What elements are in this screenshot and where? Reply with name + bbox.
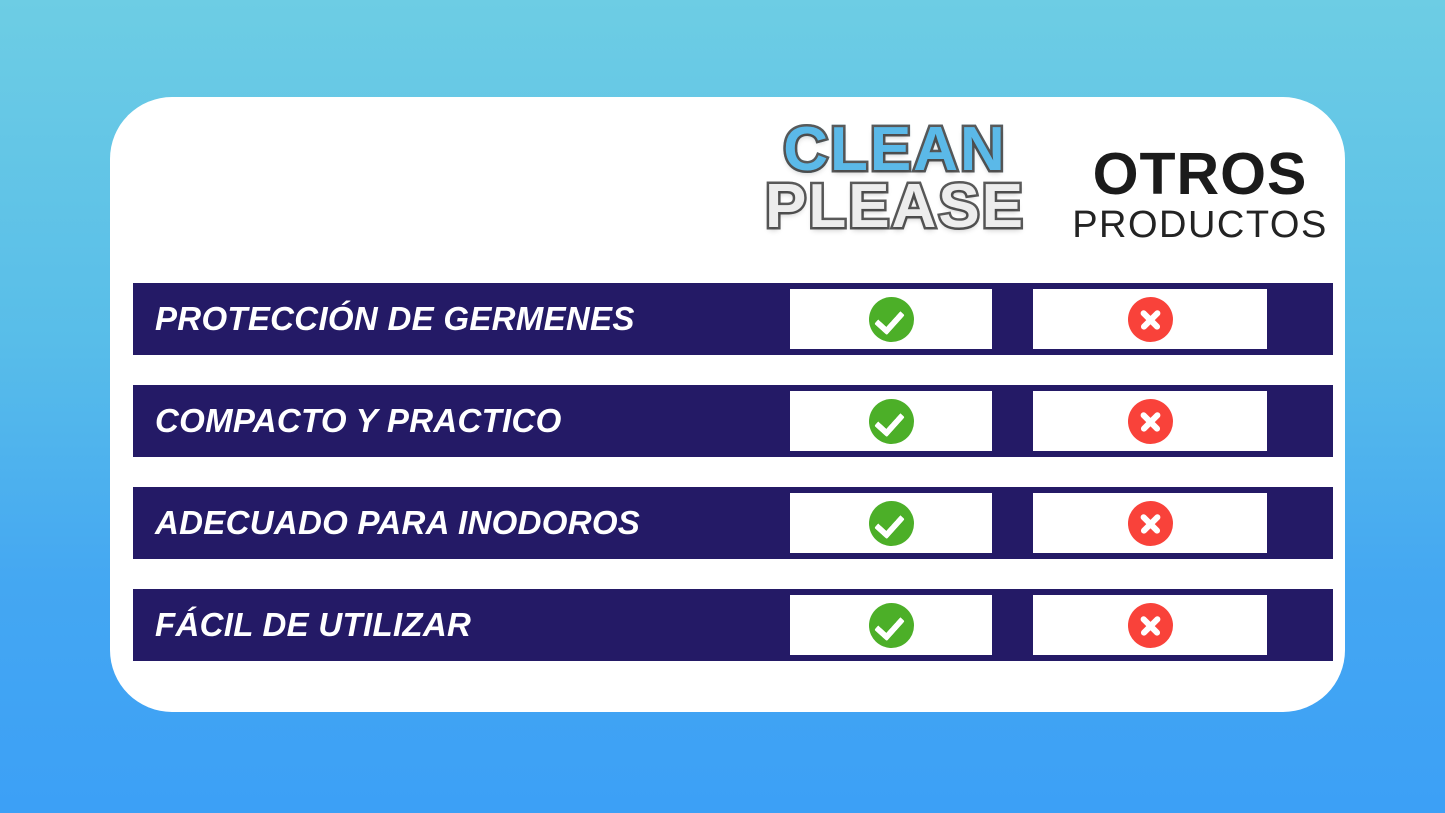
competitor-heading-line1: OTROS xyxy=(1055,145,1345,204)
brand-logo-line1: CLEAN xyxy=(755,121,1035,178)
ours-cell xyxy=(790,595,992,655)
ours-cell xyxy=(790,493,992,553)
table-row: PROTECCIÓN DE GERMENES xyxy=(133,283,1333,355)
ours-cell xyxy=(790,289,992,349)
table-row: FÁCIL DE UTILIZAR xyxy=(133,589,1333,661)
competitor-heading-line2: PRODUCTOS xyxy=(1055,206,1345,244)
theirs-cell xyxy=(1033,289,1267,349)
theirs-cell xyxy=(1033,391,1267,451)
feature-label: PROTECCIÓN DE GERMENES xyxy=(155,283,635,355)
ours-cell xyxy=(790,391,992,451)
comparison-card: CLEAN PLEASE OTROS PRODUCTOS PROTECCIÓN … xyxy=(110,97,1345,712)
feature-label: FÁCIL DE UTILIZAR xyxy=(155,589,471,661)
check-icon xyxy=(869,603,914,648)
table-row: COMPACTO Y PRACTICO xyxy=(133,385,1333,457)
comparison-infographic: CLEAN PLEASE OTROS PRODUCTOS PROTECCIÓN … xyxy=(0,0,1445,813)
check-icon xyxy=(869,501,914,546)
table-row: ADECUADO PARA INODOROS xyxy=(133,487,1333,559)
check-icon xyxy=(869,297,914,342)
theirs-cell xyxy=(1033,493,1267,553)
cross-icon xyxy=(1128,603,1173,648)
cross-icon xyxy=(1128,501,1173,546)
comparison-table: PROTECCIÓN DE GERMENES COMPACTO Y PRACTI… xyxy=(133,283,1333,661)
cross-icon xyxy=(1128,297,1173,342)
competitor-heading: OTROS PRODUCTOS xyxy=(1055,145,1345,244)
brand-logo: CLEAN PLEASE xyxy=(755,121,1035,235)
comparison-header: CLEAN PLEASE OTROS PRODUCTOS xyxy=(110,97,1345,282)
theirs-cell xyxy=(1033,595,1267,655)
cross-icon xyxy=(1128,399,1173,444)
check-icon xyxy=(869,399,914,444)
feature-label: ADECUADO PARA INODOROS xyxy=(155,487,640,559)
brand-logo-line2: PLEASE xyxy=(755,178,1035,235)
feature-label: COMPACTO Y PRACTICO xyxy=(155,385,562,457)
